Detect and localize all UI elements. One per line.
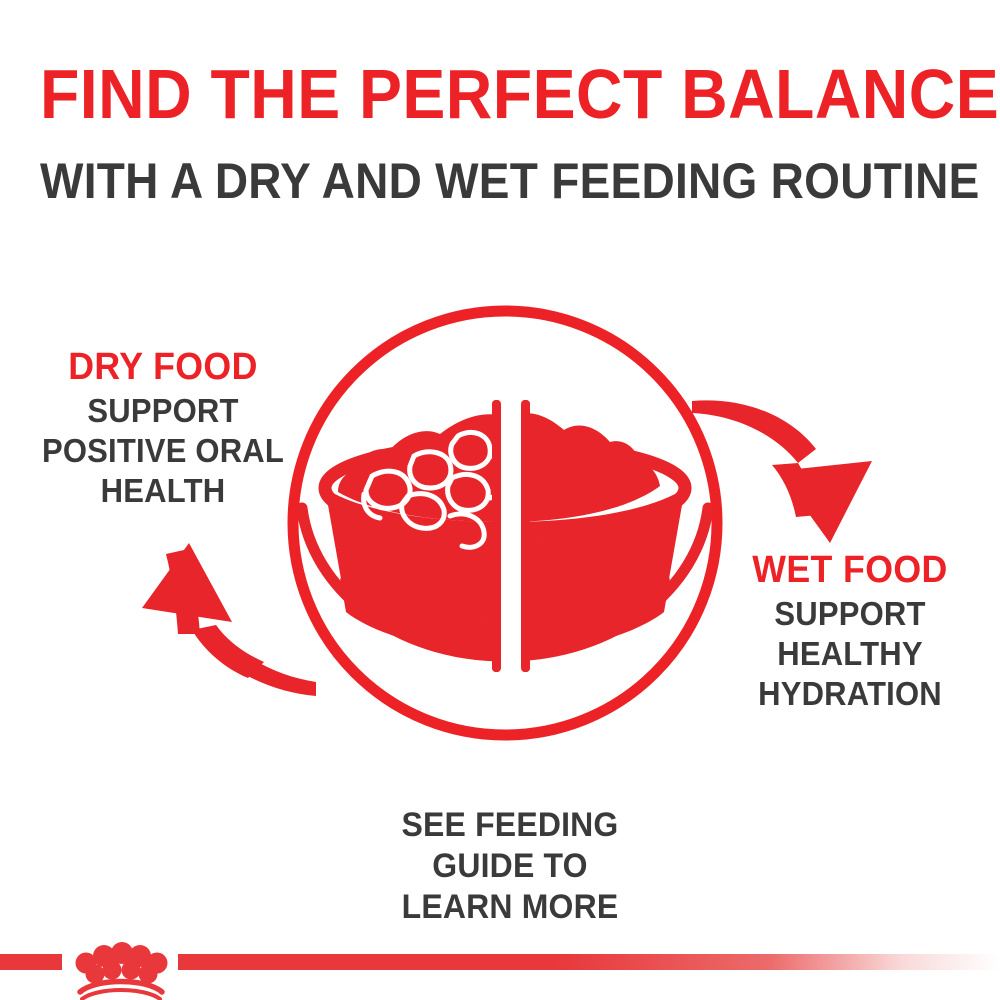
footer-rule-left: [0, 954, 62, 970]
callout-dry-food-line-3: HEALTH: [27, 471, 300, 511]
divider-gap: [499, 400, 523, 672]
callout-dry-food-title: DRY FOOD: [27, 345, 300, 389]
page-title: FIND THE PERFECT BALANCE: [40, 55, 960, 133]
footer-caption: SEE FEEDING GUIDE TO LEARN MORE: [313, 805, 708, 928]
callout-dry-food-description: SUPPORT POSITIVE ORAL HEALTH: [27, 391, 300, 511]
callout-wet-food-description: SUPPORT HEALTHY HYDRATION: [709, 594, 991, 714]
footer-caption-line-3: LEARN MORE: [313, 887, 708, 928]
callout-dry-food-line-2: POSITIVE ORAL: [27, 431, 300, 471]
split-pet-food-bowl-illustration: [268, 296, 738, 756]
footer-caption-line-2: GUIDE TO: [313, 846, 708, 887]
royal-canin-crown-logo-icon: [64, 930, 178, 1000]
bowl-group: [302, 400, 708, 672]
callout-dry-food: DRY FOOD SUPPORT POSITIVE ORAL HEALTH: [18, 345, 308, 511]
divider-bar-left-top: [492, 400, 501, 672]
poster-canvas: FIND THE PERFECT BALANCE WITH A DRY AND …: [0, 0, 1000, 1000]
divider-bar-right-top: [521, 400, 530, 672]
footer-bar: [0, 930, 1000, 1000]
callout-wet-food-line-2: HYDRATION: [709, 674, 991, 714]
footer-caption-line-1: SEE FEEDING: [313, 805, 708, 846]
callout-wet-food: WET FOOD SUPPORT HEALTHY HYDRATION: [700, 548, 1000, 714]
page-subtitle: WITH A DRY AND WET FEEDING ROUTINE: [40, 152, 960, 210]
callout-dry-food-line-1: SUPPORT: [27, 391, 300, 431]
callout-wet-food-line-1: SUPPORT HEALTHY: [709, 594, 991, 674]
footer-rule-right: [178, 954, 1000, 970]
callout-wet-food-title: WET FOOD: [709, 548, 991, 592]
